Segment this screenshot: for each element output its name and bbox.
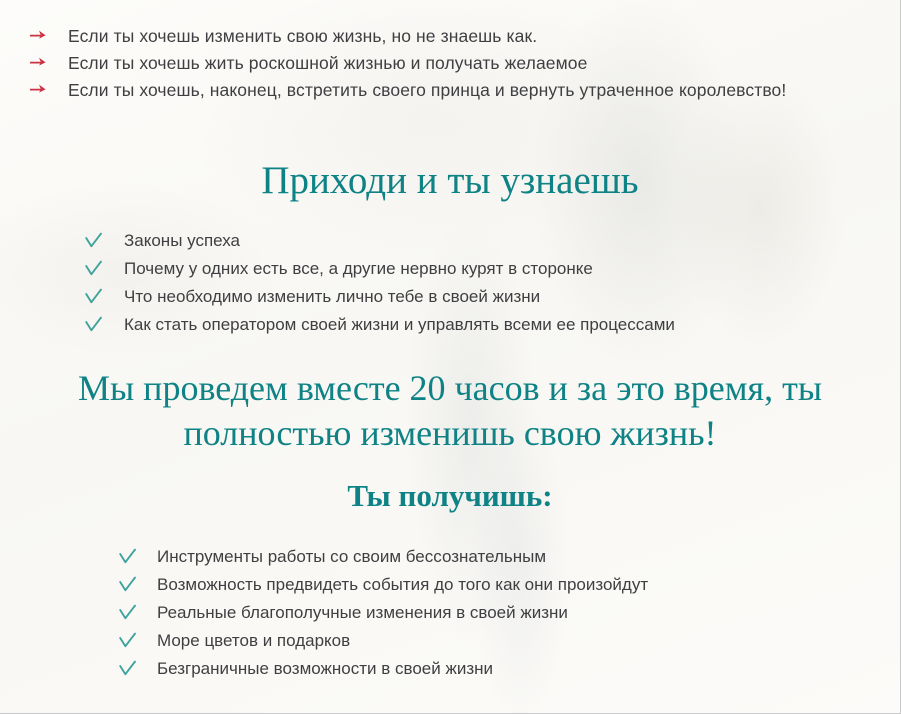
list-item: Если ты хочешь, наконец, встретить своег… [30,78,870,103]
benefits-list: Инструменты работы со своим бессознатель… [118,545,888,685]
intro-list: Если ты хочешь изменить свою жизнь, но н… [30,24,870,105]
benefit-item-label: Безграничные возможности в своей жизни [157,657,888,681]
intro-item-label: Если ты хочешь изменить свою жизнь, но н… [68,24,870,49]
statement-line-1: Мы проведем вместе 20 часов и за это вре… [16,366,884,411]
intro-item-label: Если ты хочешь, наконец, встретить своег… [68,78,870,103]
list-item: Законы успеха [84,229,884,252]
benefit-item-label: Море цветов и подарков [157,629,888,653]
list-item: Как стать оператором своей жизни и управ… [84,313,884,336]
arrow-right-icon [30,51,68,68]
heading-you-will-get: Ты получишь: [0,477,900,515]
list-item: Море цветов и подарков [118,629,888,653]
check-icon [118,545,157,566]
list-item: Безграничные возможности в своей жизни [118,657,888,681]
check-icon [84,229,124,250]
list-item: Если ты хочешь жить роскошной жизнью и п… [30,51,870,76]
check-icon [84,285,124,306]
statement-line-2: полностью изменишь свою жизнь! [16,411,884,456]
check-icon [118,657,157,678]
check-icon [118,601,157,622]
list-item: Если ты хочешь изменить свою жизнь, но н… [30,24,870,49]
learn-item-label: Как стать оператором своей жизни и управ… [124,313,884,336]
presentation-slide: Если ты хочешь изменить свою жизнь, но н… [0,0,901,714]
check-icon [84,257,124,278]
benefit-item-label: Возможность предвидеть события до того к… [157,573,888,597]
list-item: Почему у одних есть все, а другие нервно… [84,257,884,280]
heading-come-and-learn: Приходи и ты узнаешь [0,158,900,204]
statement-block: Мы проведем вместе 20 часов и за это вре… [16,366,884,456]
arrow-right-icon [30,78,68,95]
list-item: Инструменты работы со своим бессознатель… [118,545,888,569]
arrow-right-icon [30,24,68,41]
learn-list: Законы успеха Почему у одних есть все, а… [84,229,884,341]
benefit-item-label: Реальные благополучные изменения в своей… [157,601,888,625]
learn-item-label: Почему у одних есть все, а другие нервно… [124,257,884,280]
check-icon [118,629,157,650]
check-icon [84,313,124,334]
learn-item-label: Законы успеха [124,229,884,252]
learn-item-label: Что необходимо изменить лично тебе в сво… [124,285,884,308]
list-item: Реальные благополучные изменения в своей… [118,601,888,625]
check-icon [118,573,157,594]
benefit-item-label: Инструменты работы со своим бессознатель… [157,545,888,569]
list-item: Что необходимо изменить лично тебе в сво… [84,285,884,308]
slide-content: Если ты хочешь изменить свою жизнь, но н… [0,0,900,713]
intro-item-label: Если ты хочешь жить роскошной жизнью и п… [68,51,870,76]
list-item: Возможность предвидеть события до того к… [118,573,888,597]
